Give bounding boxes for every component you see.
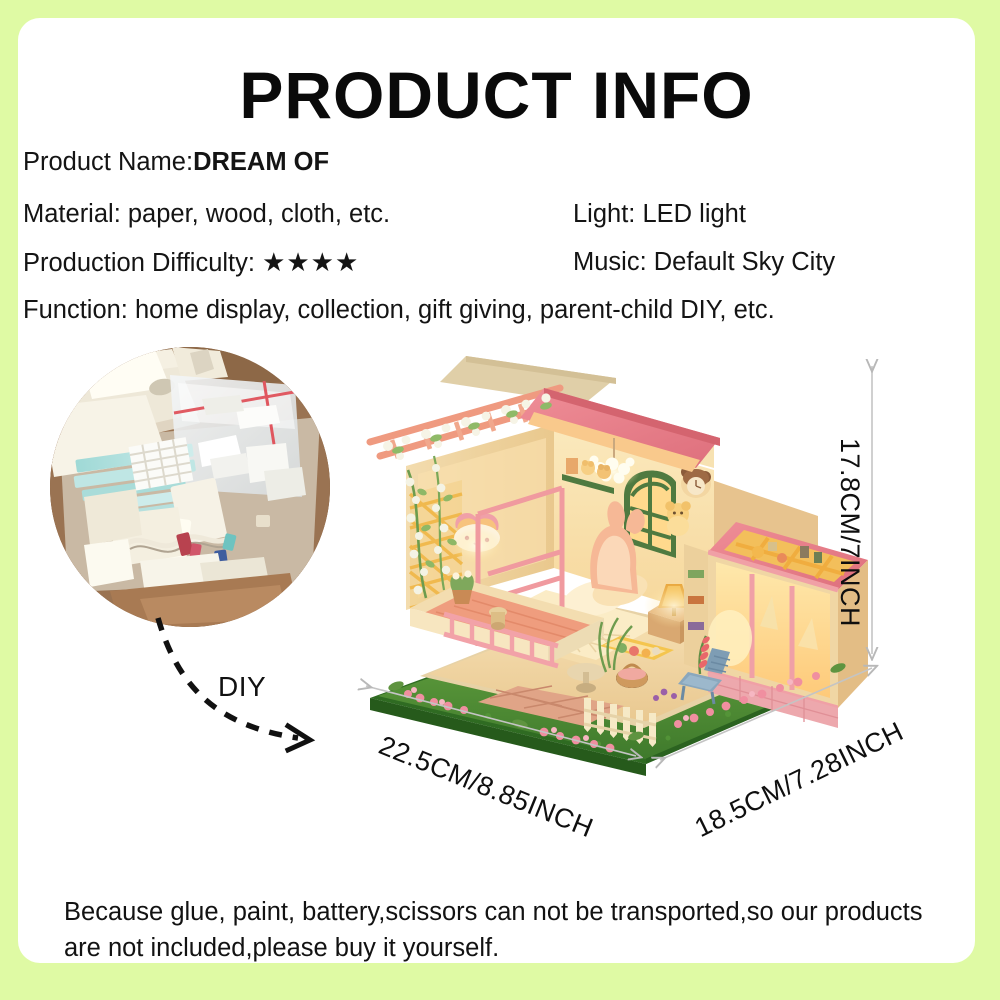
spec-music-value: Default Sky City: [654, 248, 835, 276]
spec-light: Light: LED light: [573, 200, 746, 228]
spec-material-label: Material:: [23, 200, 128, 228]
shipping-disclaimer: Because glue, paint, battery,scissors ca…: [64, 894, 954, 966]
difficulty-star-rating: ★★★★: [262, 247, 359, 277]
info-card: PRODUCT INFO Product Name:DREAM OF Mater…: [18, 18, 975, 963]
spec-product-name-value: DREAM OF: [193, 148, 329, 176]
spec-material: Material: paper, wood, cloth, etc.: [23, 200, 390, 228]
spec-function: Function: home display, collection, gift…: [23, 296, 775, 324]
dimension-label-height: 17.8CM/7INCH: [834, 438, 865, 627]
spec-difficulty: Production Difficulty: ★★★★: [23, 248, 359, 277]
spec-product-name-label: Product Name:: [23, 148, 193, 176]
spec-material-value: paper, wood, cloth, etc.: [128, 200, 390, 228]
spec-light-label: Light:: [573, 200, 642, 228]
spec-music: Music: Default Sky City: [573, 248, 835, 276]
spec-music-label: Music:: [573, 248, 654, 276]
diy-kit-parts-photo: [50, 347, 330, 627]
page-frame: PRODUCT INFO Product Name:DREAM OF Mater…: [0, 0, 1000, 1000]
assembled-dollhouse-photo: [348, 346, 908, 816]
spec-product-name: Product Name:DREAM OF: [23, 148, 329, 176]
spec-light-value: LED light: [642, 200, 745, 228]
spec-function-value: home display, collection, gift giving, p…: [135, 296, 775, 324]
page-title: PRODUCT INFO: [18, 62, 975, 128]
spec-function-label: Function:: [23, 296, 135, 324]
spec-difficulty-label: Production Difficulty:: [23, 249, 262, 277]
diy-label: DIY: [218, 671, 266, 703]
